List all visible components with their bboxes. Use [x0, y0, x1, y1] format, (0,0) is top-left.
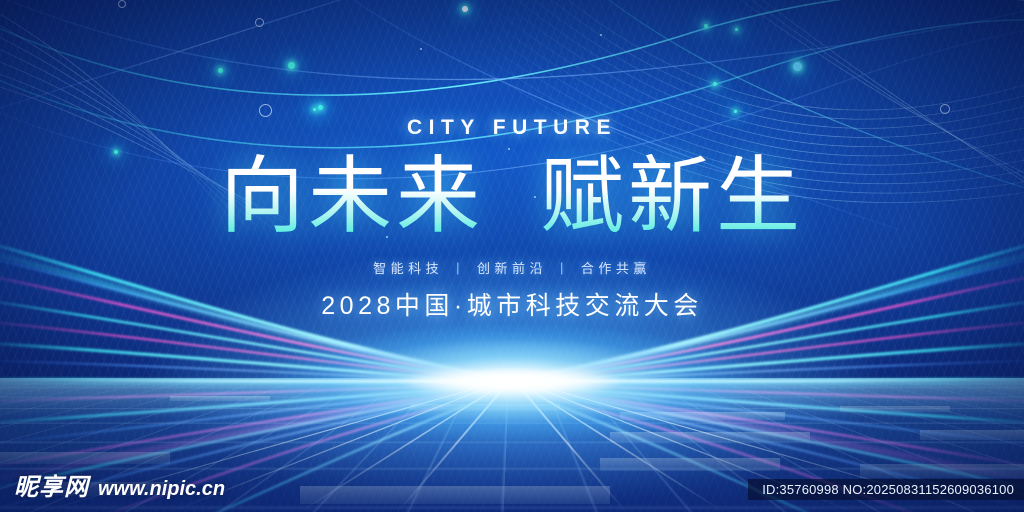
tagline-separator-2: | [560, 260, 568, 275]
headline-left: 向未来 [220, 154, 484, 238]
headline: 向未来 赋新生 [220, 154, 804, 238]
eyebrow-text: CITY FUTURE [407, 116, 617, 140]
conference-name: 2028中国·城市科技交流大会 [321, 286, 702, 322]
tagline-item-2: 创新前沿 [477, 258, 547, 277]
tagline-separator-1: | [456, 260, 464, 275]
tagline-item-1: 智能科技 [373, 258, 443, 277]
headline-right: 赋新生 [540, 154, 804, 238]
poster-content: CITY FUTURE 向未来 赋新生 智能科技 | 创新前沿 | 合作共赢 2… [0, 0, 1024, 512]
image-id-text: ID:35760998 NO:20250831152609036100 [748, 479, 1024, 500]
tagline: 智能科技 | 创新前沿 | 合作共赢 [373, 258, 651, 277]
poster-canvas: CITY FUTURE 向未来 赋新生 智能科技 | 创新前沿 | 合作共赢 2… [0, 0, 1024, 512]
tagline-item-3: 合作共赢 [581, 258, 651, 277]
